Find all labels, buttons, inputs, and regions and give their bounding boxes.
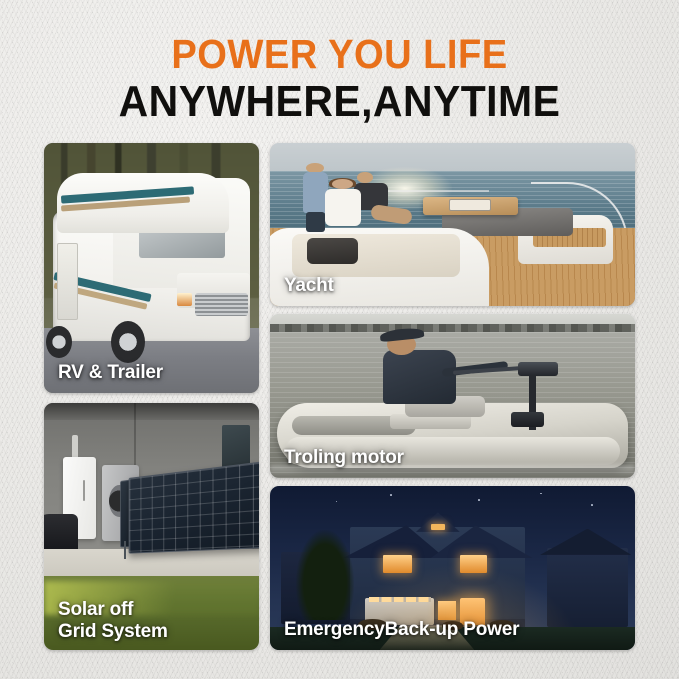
card-emergency-backup-power[interactable]: EmergencyBack-up Power — [270, 486, 635, 650]
card-label-emergency-backup-power: EmergencyBack-up Power — [284, 619, 519, 640]
headline-block: POWER YOU LIFE ANYWHERE,ANYTIME — [0, 34, 679, 124]
card-label-solar-off-grid: Solar off Grid System — [58, 599, 168, 642]
card-trolling-motor[interactable]: Troling motor — [270, 314, 635, 478]
card-rv-trailer[interactable]: RV & Trailer — [44, 143, 259, 393]
card-label-rv-trailer: RV & Trailer — [58, 362, 163, 383]
poster-background: POWER YOU LIFE ANYWHERE,ANYTIME — [0, 0, 679, 679]
card-solar-off-grid[interactable]: Solar off Grid System — [44, 403, 259, 650]
card-label-yacht: Yacht — [284, 275, 334, 296]
headline-line-1: POWER YOU LIFE — [24, 34, 655, 75]
feature-card-grid: RV & Trailer — [44, 143, 635, 650]
rv-photo — [44, 143, 259, 393]
card-label-trolling-motor: Troling motor — [284, 447, 404, 468]
card-yacht[interactable]: Yacht — [270, 143, 635, 306]
headline-line-2: ANYWHERE,ANYTIME — [24, 80, 655, 124]
